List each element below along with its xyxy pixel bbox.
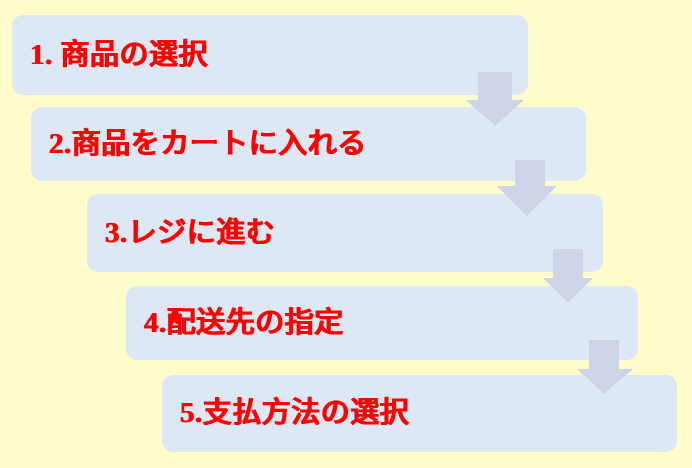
flowchart-canvas: 1. 商品の選択 2.商品をカートに入れる 3.レジに進む 4.配送先の指定 5…	[0, 0, 692, 468]
step-box-1[interactable]: 1. 商品の選択	[12, 15, 528, 95]
step-label-3: 3.レジに進む	[87, 219, 275, 248]
arrow-step2-to-step3	[497, 160, 557, 216]
step-label-4: 4.配送先の指定	[126, 309, 344, 338]
step-label-5: 5.支払方法の選択	[162, 399, 409, 428]
arrow-step4-to-step5	[577, 340, 633, 394]
arrow-step3-to-step4	[543, 249, 593, 303]
step-label-1: 1. 商品の選択	[12, 41, 208, 70]
arrow-step1-to-step2	[466, 72, 524, 126]
step-label-2: 2.商品をカートに入れる	[31, 130, 367, 159]
